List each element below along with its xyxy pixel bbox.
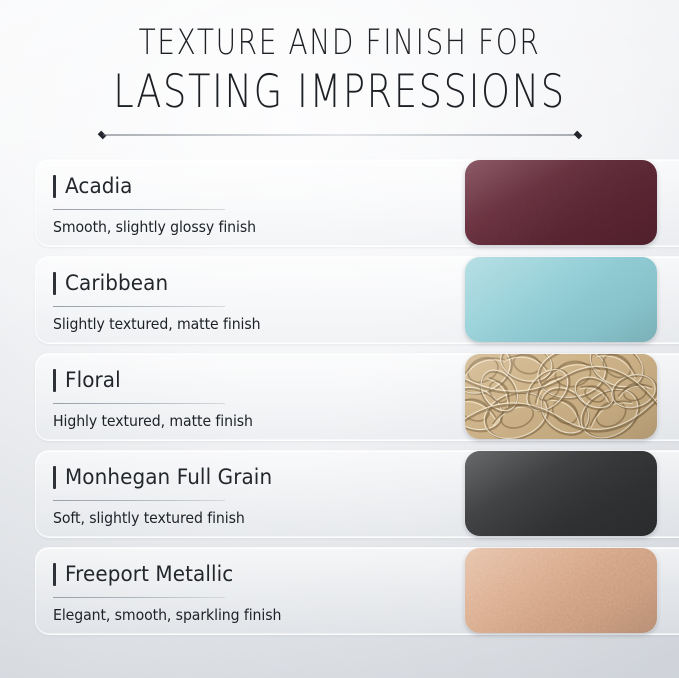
finish-name-wrap: Floral [53, 367, 348, 397]
finish-card-body: Freeport MetallicElegant, smooth, sparkl… [53, 561, 348, 625]
page-title-line-1: TEXTURE AND FINISH FOR [68, 22, 611, 64]
finish-name: Floral [65, 367, 334, 393]
finish-name-underline [53, 500, 225, 501]
finish-name-wrap: Freeport Metallic [53, 561, 348, 591]
finish-swatch[interactable] [465, 257, 657, 342]
finish-description: Slightly textured, matte finish [53, 315, 330, 334]
page-title-line-2: LASTING IMPRESSIONS [68, 65, 611, 117]
finish-row: CaribbeanSlightly textured, matte finish [0, 256, 679, 342]
swatch-sheen [465, 257, 657, 342]
finish-card-body: CaribbeanSlightly textured, matte finish [53, 270, 348, 334]
finish-name-underline [53, 209, 225, 210]
finish-name-wrap: Monhegan Full Grain [53, 464, 348, 494]
swatch-sheen [465, 354, 657, 439]
finish-name: Monhegan Full Grain [65, 464, 334, 490]
finish-row: FloralHighly textured, matte finish [0, 353, 679, 439]
finish-card-body: FloralHighly textured, matte finish [53, 367, 348, 431]
finish-list: AcadiaSmooth, slightly glossy finishCari… [0, 159, 679, 633]
accent-bar-icon [53, 272, 56, 295]
finish-card-body: AcadiaSmooth, slightly glossy finish [53, 173, 348, 237]
finish-name: Acadia [65, 173, 334, 199]
divider-ornament [97, 129, 583, 141]
accent-bar-icon [53, 369, 56, 392]
finish-description: Elegant, smooth, sparkling finish [53, 606, 330, 625]
swatch-sheen [465, 548, 657, 633]
finish-swatch[interactable] [465, 548, 657, 633]
swatch-sheen [465, 451, 657, 536]
finish-name-underline [53, 403, 225, 404]
finish-swatch[interactable] [465, 354, 657, 439]
poster-canvas: TEXTURE AND FINISH FOR LASTING IMPRESSIO… [0, 0, 679, 678]
diamond-icon-right [573, 131, 582, 140]
finish-description: Soft, slightly textured finish [53, 509, 330, 528]
finish-name-underline [53, 597, 225, 598]
finish-description: Highly textured, matte finish [53, 412, 330, 431]
poster-header: TEXTURE AND FINISH FOR LASTING IMPRESSIO… [0, 0, 679, 141]
finish-row: Freeport MetallicElegant, smooth, sparkl… [0, 547, 679, 633]
finish-row: AcadiaSmooth, slightly glossy finish [0, 159, 679, 245]
finish-name: Freeport Metallic [65, 561, 334, 587]
finish-swatch[interactable] [465, 160, 657, 245]
accent-bar-icon [53, 563, 56, 586]
accent-bar-icon [53, 175, 56, 198]
finish-name: Caribbean [65, 270, 334, 296]
finish-name-wrap: Caribbean [53, 270, 348, 300]
finish-row: Monhegan Full GrainSoft, slightly textur… [0, 450, 679, 536]
finish-card-body: Monhegan Full GrainSoft, slightly textur… [53, 464, 348, 528]
finish-name-underline [53, 306, 225, 307]
finish-swatch[interactable] [465, 451, 657, 536]
finish-description: Smooth, slightly glossy finish [53, 218, 330, 237]
swatch-sheen [465, 160, 657, 245]
accent-bar-icon [53, 466, 56, 489]
finish-name-wrap: Acadia [53, 173, 348, 203]
divider-rule [103, 135, 577, 136]
